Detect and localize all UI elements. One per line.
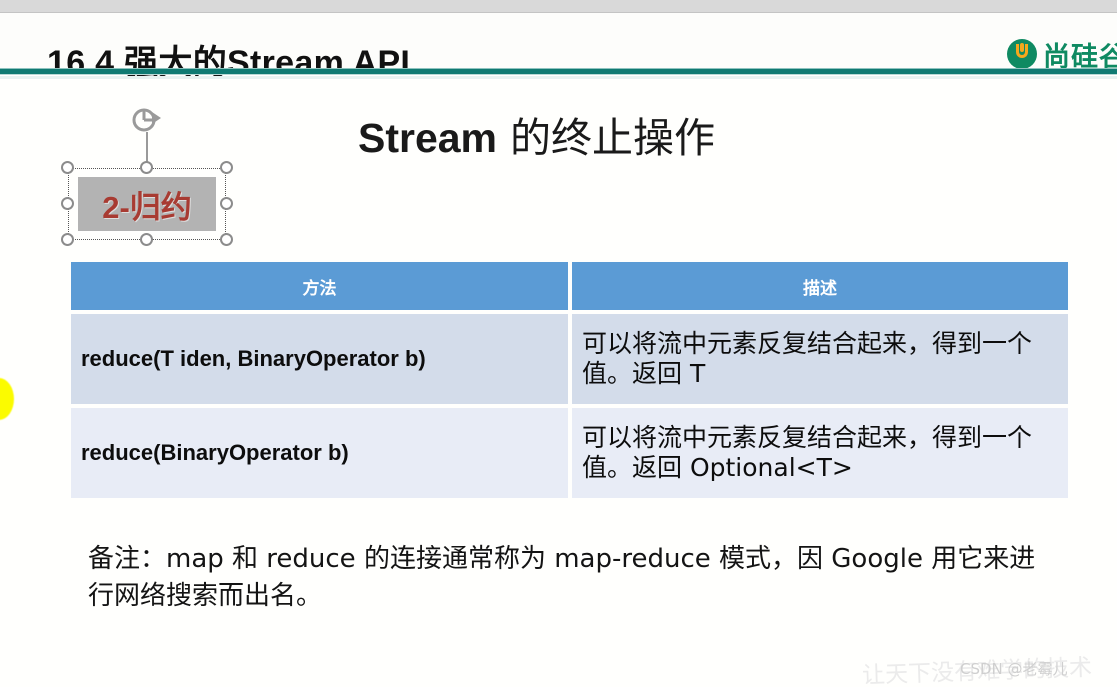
rotate-handle-icon[interactable] — [130, 105, 162, 135]
table-row: reduce(BinaryOperator b) 可以将流中元素反复结合起来，得… — [71, 408, 1068, 498]
header-accent-rule-light — [0, 76, 1117, 79]
column-header-description: 描述 — [572, 262, 1068, 310]
cell-method: reduce(BinaryOperator b) — [71, 408, 568, 498]
table-row: reduce(T iden, BinaryOperator b) 可以将流中元素… — [71, 314, 1068, 404]
slide-title-en: Stream — [358, 115, 497, 161]
resize-handle-icon[interactable] — [220, 233, 233, 246]
resize-handle-icon[interactable] — [220, 161, 233, 174]
table-header-row: 方法 描述 — [71, 262, 1068, 310]
resize-handle-icon[interactable] — [61, 197, 74, 210]
slide-title-cn: 的终止操作 — [497, 114, 715, 162]
header-accent-rule — [0, 68, 1117, 75]
cell-description: 可以将流中元素反复结合起来，得到一个值。返回 T — [572, 314, 1068, 404]
yellow-highlight-blob — [0, 378, 14, 420]
slide-canvas: 16.4 强大的Stream API 尚硅谷 Stream 的终止操作 2-归约 — [0, 0, 1117, 687]
resize-handle-icon[interactable] — [61, 233, 74, 246]
footnote: 备注：map 和 reduce 的连接通常称为 map-reduce 模式，因 … — [88, 541, 1048, 615]
methods-table: 方法 描述 reduce(T iden, BinaryOperator b) 可… — [71, 262, 1068, 502]
column-header-method: 方法 — [71, 262, 568, 310]
csdn-watermark: CSDN @老霉儿 — [960, 658, 1068, 679]
slide-title: Stream 的终止操作 — [358, 104, 715, 164]
selection-label: 2-归约 — [68, 168, 226, 240]
slide-header: 16.4 强大的Stream API 尚硅谷 — [0, 13, 1117, 69]
cell-description: 可以将流中元素反复结合起来，得到一个值。返回 Optional<T> — [572, 408, 1068, 498]
resize-handle-icon[interactable] — [140, 161, 153, 174]
cell-method: reduce(T iden, BinaryOperator b) — [71, 314, 568, 404]
selected-textbox[interactable]: 2-归约 — [68, 168, 226, 240]
resize-handle-icon[interactable] — [61, 161, 74, 174]
resize-handle-icon[interactable] — [220, 197, 233, 210]
resize-handle-icon[interactable] — [140, 233, 153, 246]
app-chrome-strip — [0, 0, 1117, 13]
atguigu-u-logo-icon — [1007, 39, 1037, 69]
